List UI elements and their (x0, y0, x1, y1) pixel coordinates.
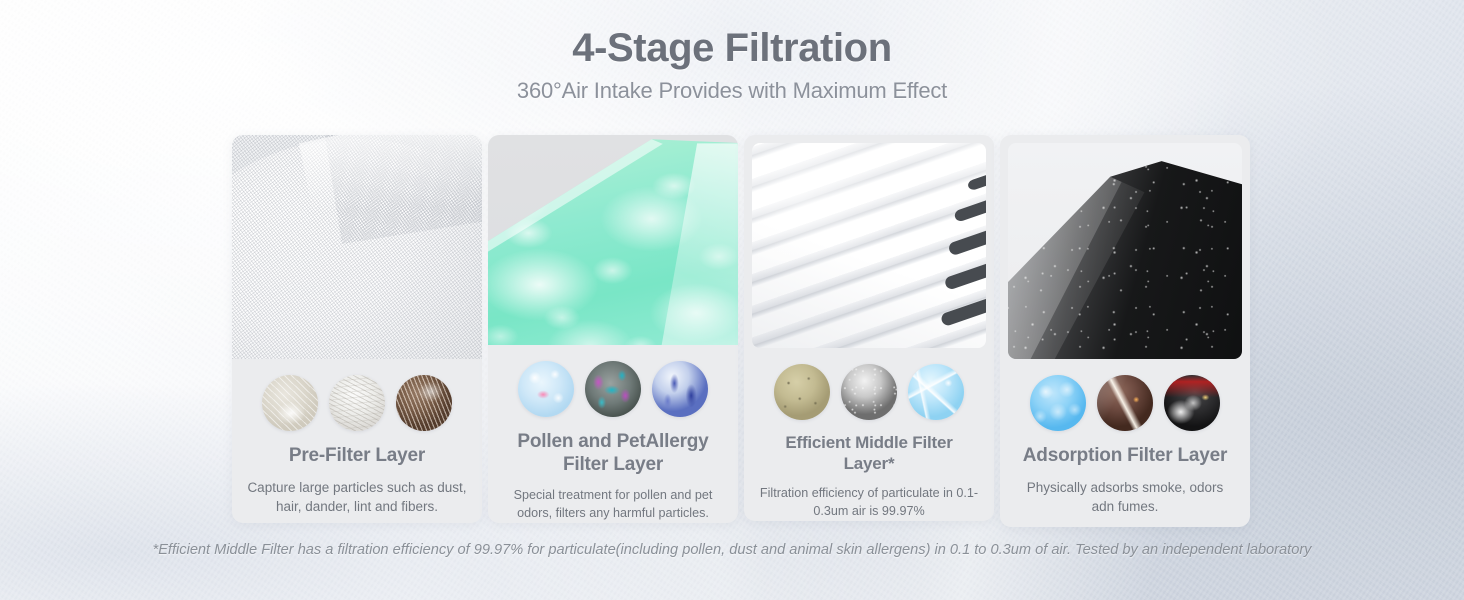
mesh-screen-illustration (232, 135, 482, 359)
adsorption-title: Adsorption Filter Layer (1023, 444, 1227, 467)
filter-stage-card-efficient-middle[interactable]: Efficient Middle Filter Layer* Filtratio… (744, 135, 994, 521)
lint-fiber-thumbnail (329, 375, 385, 431)
hair-dander-thumbnail (396, 375, 452, 431)
filtration-infographic: 4-Stage Filtration 360°Air Intake Provid… (0, 0, 1464, 600)
adsorption-photo (1008, 143, 1242, 359)
smog-thumbnail (841, 364, 897, 420)
pollen-pet-allergy-body: Pollen and PetAllergy Filter Layer Speci… (488, 345, 738, 523)
pre-filter-body: Pre-Filter Layer Capture large particles… (232, 359, 482, 523)
pollen-pet-allergy-description: Special treatment for pollen and pet odo… (502, 487, 724, 523)
filter-stage-card-row: Pre-Filter Layer Capture large particles… (232, 135, 1268, 527)
dust-thumbnail (262, 375, 318, 431)
pollen-thumbnail (518, 361, 574, 417)
pleat-gap-shadows (883, 143, 986, 348)
pollen-pet-allergy-photo (488, 135, 738, 345)
pre-filter-photo (232, 135, 482, 359)
footnote-disclaimer: *Efficient Middle Filter has a filtratio… (72, 540, 1392, 561)
efficient-middle-body: Efficient Middle Filter Layer* Filtratio… (744, 348, 994, 521)
efficient-middle-description: Filtration efficiency of particulate in … (758, 485, 980, 521)
efficient-middle-thumbnail-row (774, 364, 964, 420)
efficient-middle-photo (752, 143, 986, 348)
page-subtitle: 360°Air Intake Provides with Maximum Eff… (0, 78, 1464, 104)
filter-stage-card-adsorption[interactable]: Adsorption Filter Layer Physically adsor… (1000, 135, 1250, 527)
filter-stage-card-pollen-pet-allergy[interactable]: Pollen and PetAllergy Filter Layer Speci… (488, 135, 738, 523)
cigarette-smoke-thumbnail (1097, 375, 1153, 431)
virus-thumbnail (908, 364, 964, 420)
filter-stage-card-pre-filter[interactable]: Pre-Filter Layer Capture large particles… (232, 135, 482, 523)
pleated-hepa-illustration (752, 143, 986, 348)
efficient-middle-title: Efficient Middle Filter Layer* (758, 433, 980, 474)
pre-filter-title: Pre-Filter Layer (289, 444, 425, 467)
pollen-pet-allergy-title: Pollen and PetAllergy Filter Layer (502, 430, 724, 476)
pre-filter-thumbnail-row (262, 375, 452, 431)
particulate-thumbnail (774, 364, 830, 420)
activated-carbon-illustration (1008, 143, 1242, 359)
cooking-fumes-thumbnail (1164, 375, 1220, 431)
pollen-pet-allergy-thumbnail-row (518, 361, 708, 417)
adsorption-description: Physically adsorbs smoke, odors adn fume… (1014, 478, 1236, 516)
adsorption-thumbnail-row (1030, 375, 1220, 431)
bacteria-thumbnail (652, 361, 708, 417)
green-filter-sheet-illustration (488, 135, 738, 345)
activated-carbon-thumbnail (1030, 375, 1086, 431)
germ-thumbnail (585, 361, 641, 417)
header: 4-Stage Filtration 360°Air Intake Provid… (0, 26, 1464, 104)
pre-filter-description: Capture large particles such as dust, ha… (246, 478, 468, 516)
adsorption-body: Adsorption Filter Layer Physically adsor… (1000, 359, 1250, 527)
page-title: 4-Stage Filtration (0, 26, 1464, 71)
